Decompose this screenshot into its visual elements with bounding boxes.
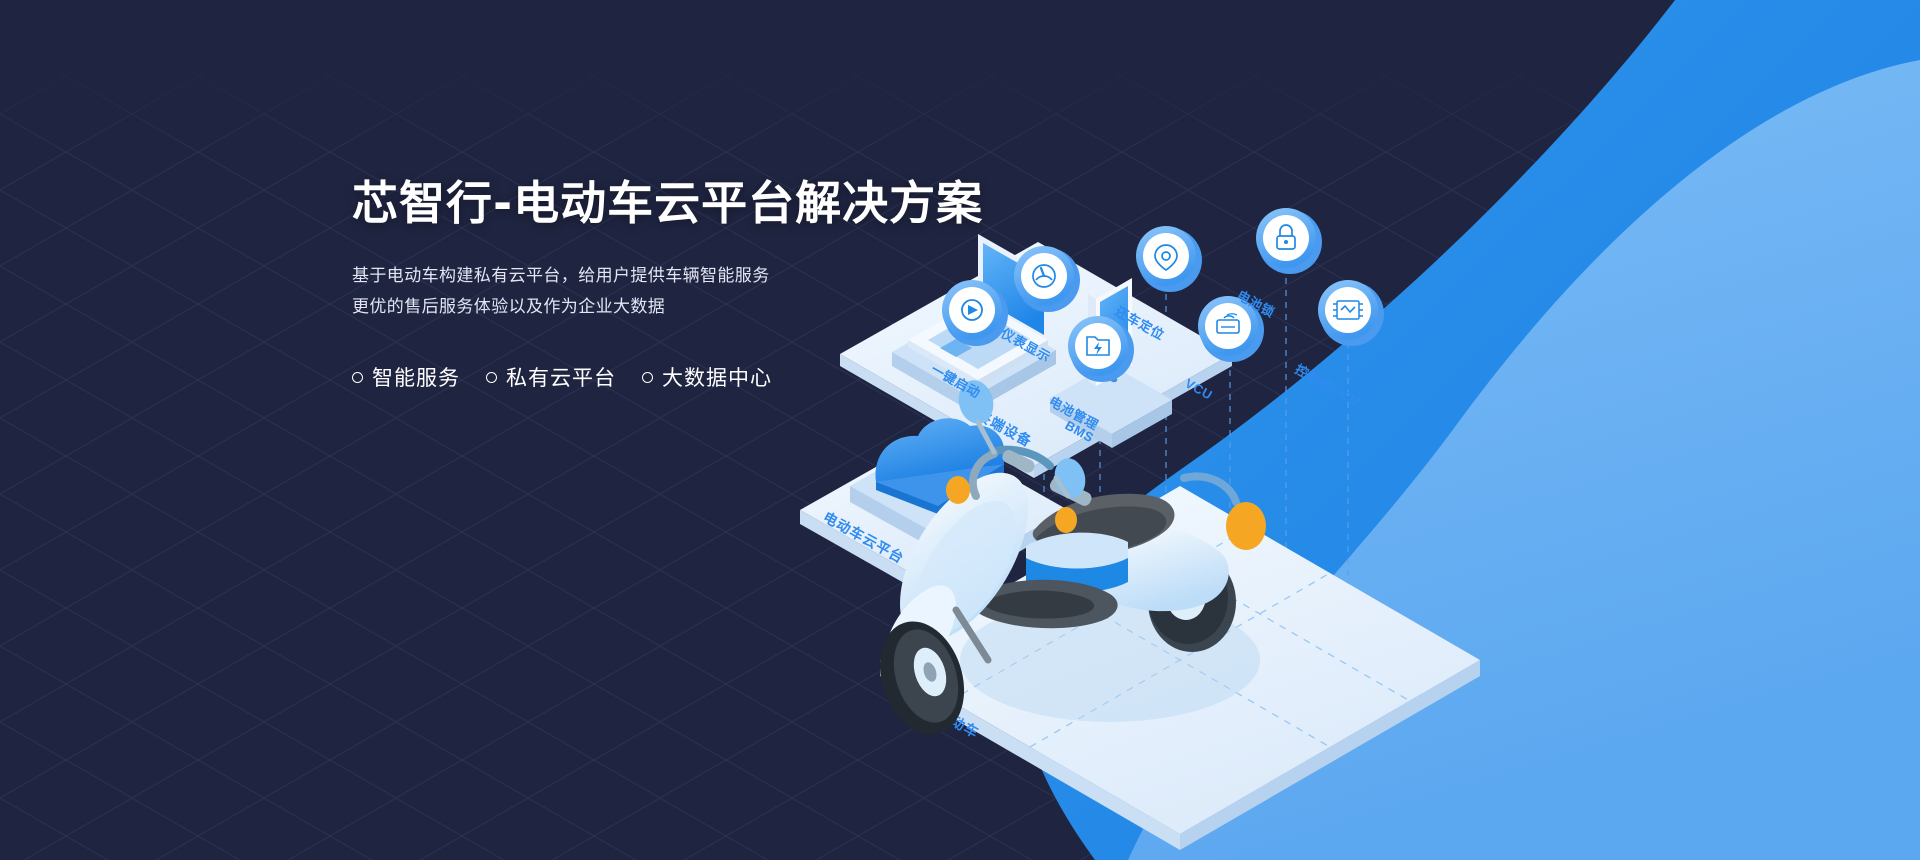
feature-label-vcu: VCU (1183, 376, 1216, 403)
indicator-right (1055, 507, 1077, 533)
bullet-item-1: 私有云平台 (486, 362, 616, 392)
bullet-item-2: 大数据中心 (642, 362, 772, 392)
feature-coin-battery-lock: 电池锁 (1235, 208, 1322, 320)
bullet-label-0: 智能服务 (372, 362, 460, 392)
bullet-label-2: 大数据中心 (662, 362, 772, 392)
bullet-dot-icon (352, 372, 363, 383)
feature-label-mcu: 控制器MCU (1293, 362, 1363, 410)
bullet-label-1: 私有云平台 (506, 362, 616, 392)
taillight (1226, 502, 1266, 550)
banner-stage: 芯智行-电动车云平台解决方案 基于电动车构建私有云平台，给用户提供车辆智能服务 … (0, 0, 1920, 860)
feature-coin-mcu: 控制器MCU (1293, 280, 1384, 409)
bullet-dot-icon (486, 372, 497, 383)
bullet-dot-icon (642, 372, 653, 383)
indicator-left (946, 476, 970, 504)
isometric-illustration: 终端设备 电动车云平台 (780, 190, 1920, 860)
bullet-item-0: 智能服务 (352, 362, 460, 392)
